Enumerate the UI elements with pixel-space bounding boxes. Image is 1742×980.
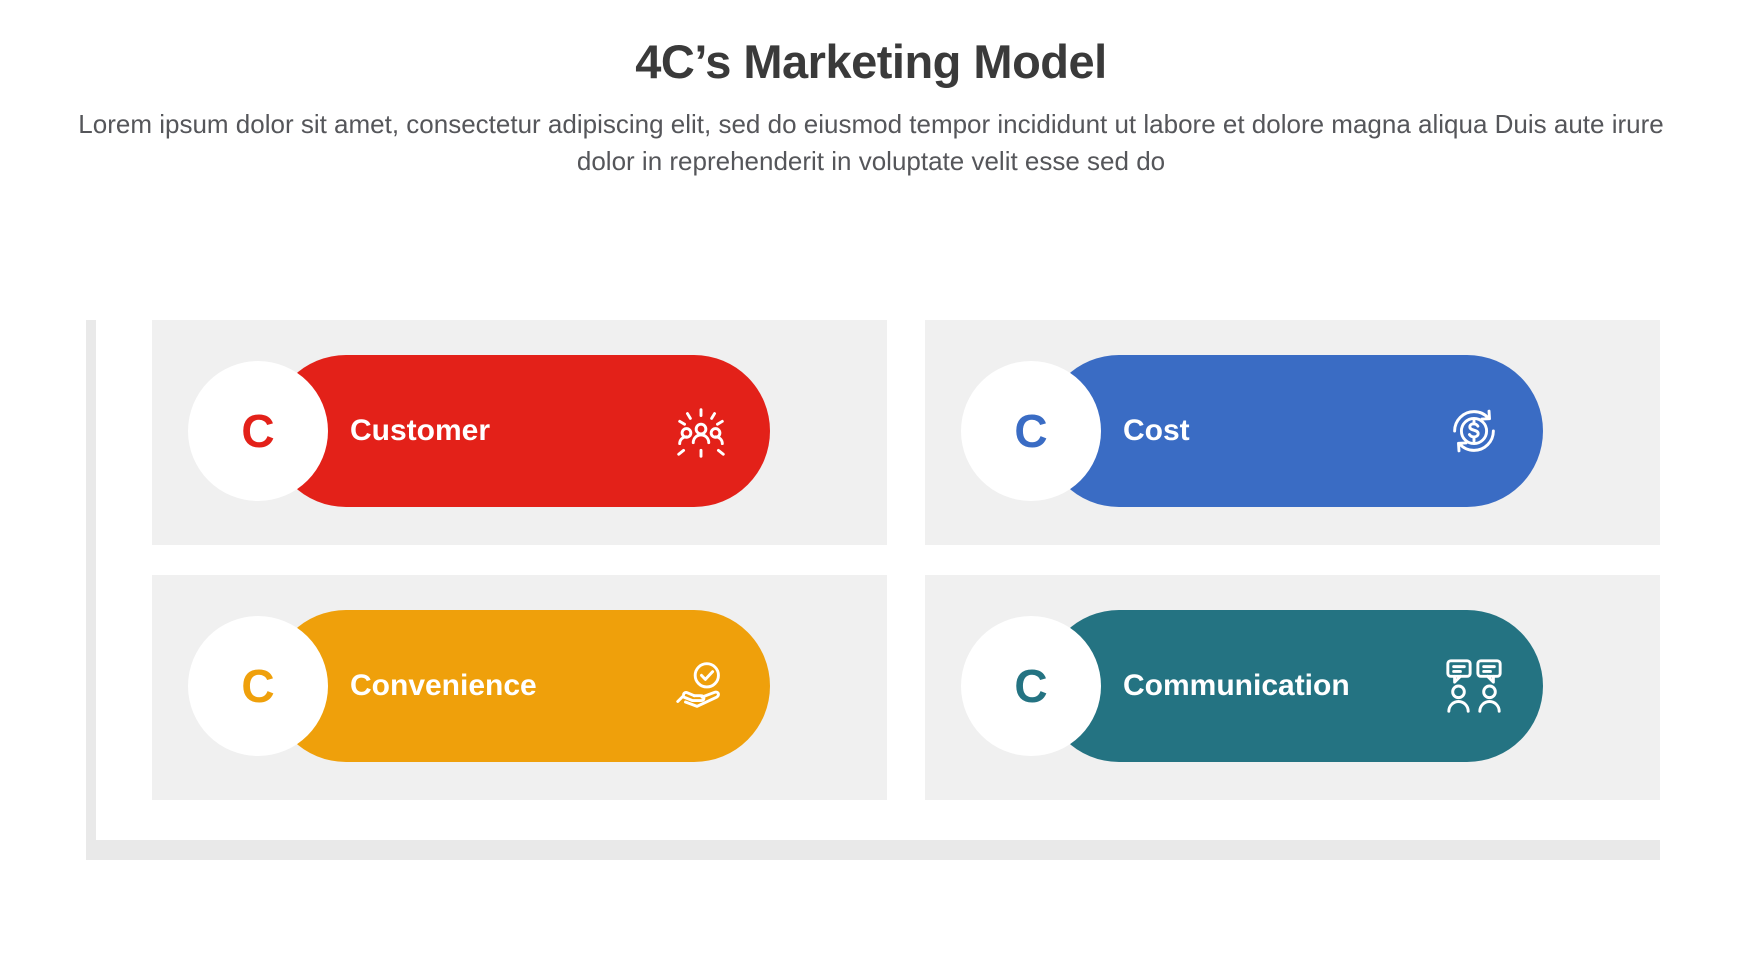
people-group-icon <box>670 400 732 462</box>
badge-letter: C <box>241 408 274 454</box>
label-customer: Customer <box>350 414 490 448</box>
label-convenience: Convenience <box>350 669 537 703</box>
pill-convenience[interactable]: C Convenience <box>270 610 770 762</box>
cell-communication: C Communication <box>925 575 1660 800</box>
pill-communication[interactable]: C Communication <box>1043 610 1543 762</box>
header: 4C’s Marketing Model Lorem ipsum dolor s… <box>0 34 1742 180</box>
cell-convenience: C Convenience <box>152 575 887 800</box>
pill-cost[interactable]: C Cost <box>1043 355 1543 507</box>
badge-cost: C <box>961 361 1101 501</box>
pill-customer[interactable]: C Customer <box>270 355 770 507</box>
badge-communication: C <box>961 616 1101 756</box>
cell-customer: C Customer <box>152 320 887 545</box>
label-cost: Cost <box>1123 414 1190 448</box>
badge-letter: C <box>1014 663 1047 709</box>
badge-convenience: C <box>188 616 328 756</box>
page-title: 4C’s Marketing Model <box>0 34 1742 90</box>
infographic-page: 4C’s Marketing Model Lorem ipsum dolor s… <box>0 0 1742 980</box>
badge-customer: C <box>188 361 328 501</box>
cell-cost: C Cost <box>925 320 1660 545</box>
money-refresh-icon <box>1443 400 1505 462</box>
items-grid: C Customer <box>152 320 1660 800</box>
label-communication: Communication <box>1123 669 1350 703</box>
badge-letter: C <box>241 663 274 709</box>
page-subtitle: Lorem ipsum dolor sit amet, consectetur … <box>71 106 1671 180</box>
people-chat-icon <box>1443 655 1505 717</box>
badge-letter: C <box>1014 408 1047 454</box>
hand-check-icon <box>670 655 732 717</box>
